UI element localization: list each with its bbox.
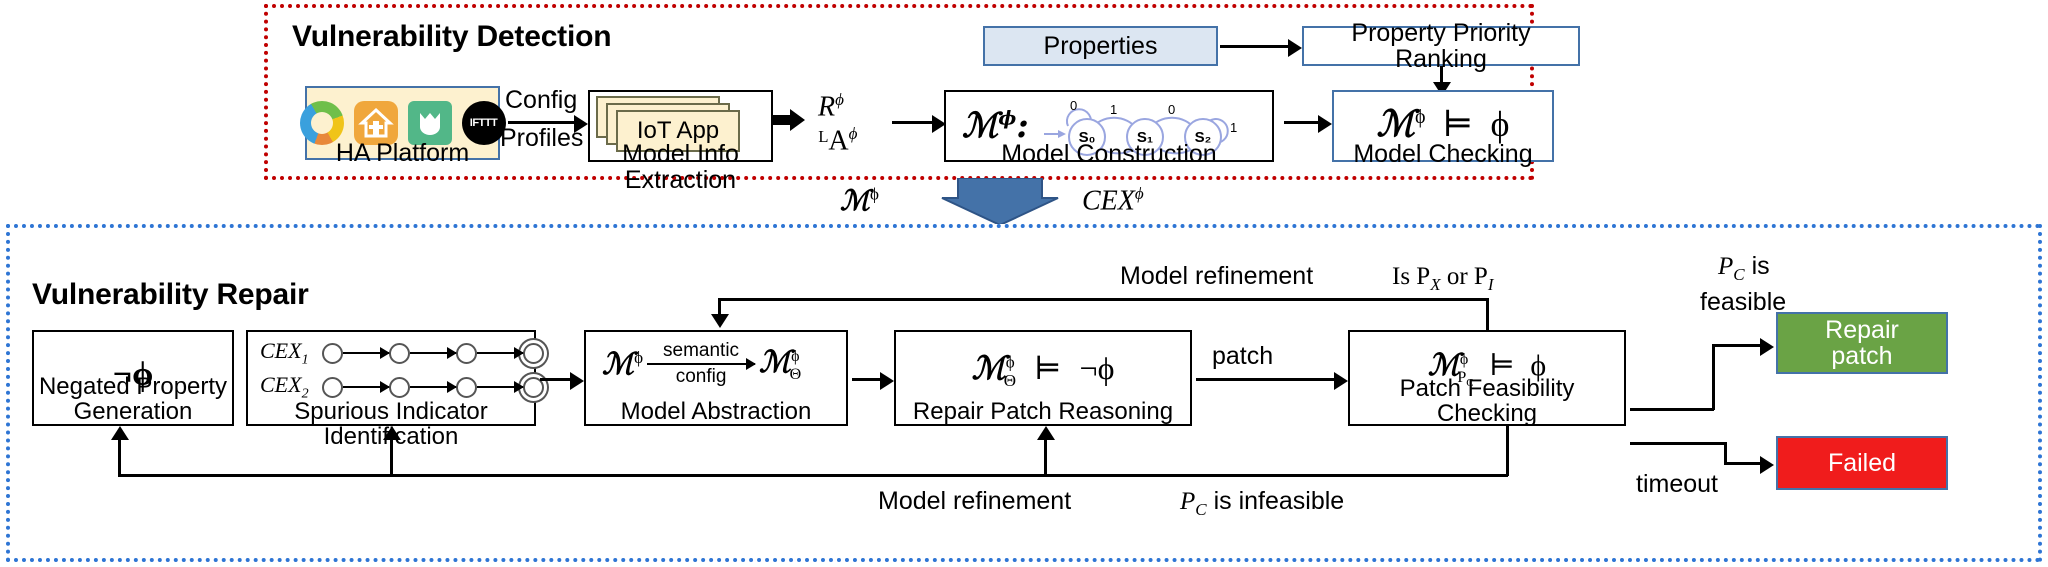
failed-label: Failed xyxy=(1828,450,1896,476)
transition-label-1a: 1 xyxy=(1110,102,1117,117)
pc-feasible-label-line1: PC is xyxy=(1718,252,1770,285)
bridge-right-label: CEXϕ xyxy=(1082,184,1144,217)
reasoning-entails-symbol: ⊨ xyxy=(1024,350,1072,386)
model-construction-caption: Model Construction xyxy=(944,141,1274,167)
refinement-bottom-vert-left xyxy=(118,440,121,476)
property-priority-ranking-box[interactable]: Property Priority Ranking xyxy=(1302,26,1580,66)
abstraction-op-arrow xyxy=(647,363,755,365)
bridge-left-sup: ϕ xyxy=(870,185,879,204)
config-label: Config xyxy=(505,86,577,115)
construction-to-checking-head xyxy=(1318,115,1332,133)
cex1-row: CEX1 xyxy=(260,338,544,368)
reasoning-model-symbol: ℳ xyxy=(972,349,1006,387)
output-r-base: R xyxy=(818,91,835,122)
model-refinement-bottom-label: Model refinement xyxy=(878,487,1071,516)
patch-edge-label: patch xyxy=(1212,342,1273,371)
reasoning-rhs: ¬ϕ xyxy=(1080,350,1115,386)
feasible-vert xyxy=(1712,344,1715,410)
refinement-top-vert-right xyxy=(1486,298,1489,330)
property-priority-ranking-label: Property Priority Ranking xyxy=(1304,20,1578,73)
output-a-symbol: ᴸAϕ xyxy=(818,124,857,157)
reasoning-to-feasibility-head xyxy=(1334,372,1348,390)
profiles-label: Profiles xyxy=(500,124,583,153)
is-px-or-pi-label: Is PX or PI xyxy=(1392,262,1494,295)
properties-to-ranking-line xyxy=(1220,45,1290,48)
bridge-down-arrow xyxy=(940,178,1060,226)
feasible-horiz-1 xyxy=(1630,408,1714,411)
extraction-bold-arrow xyxy=(772,107,806,138)
timeout-label: timeout xyxy=(1636,470,1718,499)
detection-panel-title: Vulnerability Detection xyxy=(292,20,611,54)
timeout-horiz-1 xyxy=(1630,442,1726,445)
repair-patch-line1: Repair xyxy=(1825,317,1899,343)
feasibility-model-sup: ϕ xyxy=(1460,351,1468,368)
cex1-chain xyxy=(322,343,544,364)
timeout-horiz-2 xyxy=(1724,462,1764,465)
cex1-label: CEX1 xyxy=(260,338,322,368)
ha-platform-caption: HA Platform xyxy=(305,140,500,166)
model-symbol-base: ℳ xyxy=(962,106,998,146)
patch-feasibility-caption-line1: Patch Feasibility xyxy=(1348,376,1626,401)
refinement-bottom-horiz xyxy=(118,474,1508,477)
refinement-bottom-vert-mid2 xyxy=(1044,440,1047,476)
refinement-top-arrowhead xyxy=(711,314,729,328)
transition-label-1b: 1 xyxy=(1230,120,1237,135)
repair-patch-reasoning-caption: Repair Patch Reasoning xyxy=(894,399,1192,424)
abstraction-rhs: ℳϕΘ xyxy=(759,345,801,384)
checking-model-sup: ϕ xyxy=(1415,106,1426,128)
pc-infeasible-label: PC is infeasible xyxy=(1180,487,1344,520)
abstraction-to-reasoning-head xyxy=(880,372,894,390)
bridge-right-sup: ϕ xyxy=(1135,184,1144,203)
refinement-bottom-vert-mid1 xyxy=(390,440,393,476)
failed-outcome-box[interactable]: Failed xyxy=(1776,436,1948,490)
model-symbol-sup: ϕ xyxy=(998,108,1016,130)
refinement-bottom-arrowhead-mid2 xyxy=(1037,426,1055,440)
model-checking-caption: Model Checking xyxy=(1332,141,1554,167)
abstraction-lhs: ℳϕ xyxy=(602,347,643,382)
refinement-top-horiz xyxy=(718,298,1489,301)
properties-box[interactable]: Properties xyxy=(983,26,1218,66)
pc-feasible-label-line2: feasible xyxy=(1700,288,1786,317)
cex1-node-2 xyxy=(389,343,410,364)
cex1-edge-3 xyxy=(477,352,523,354)
timeout-arrowhead xyxy=(1760,456,1774,474)
model-abstraction-caption: Model Abstraction xyxy=(584,399,848,424)
abstraction-op-bottom: config xyxy=(676,366,727,388)
bridge-left-label: ℳϕ xyxy=(840,184,879,218)
reasoning-model-sup: ϕ xyxy=(1006,352,1015,371)
timeout-vert xyxy=(1724,442,1727,464)
output-r-sup: ϕ xyxy=(835,90,844,109)
cex2-edge-1 xyxy=(343,386,389,388)
cex2-edge-3 xyxy=(477,386,523,388)
properties-label: Properties xyxy=(1044,33,1158,59)
cex1-node-3 xyxy=(456,343,477,364)
transition-label-0b: 0 xyxy=(1168,102,1175,117)
reasoning-formula: ℳϕΘ ⊨ ¬ϕ xyxy=(972,349,1115,391)
extraction-to-construction-line xyxy=(892,121,934,124)
cex2-node-2 xyxy=(389,377,410,398)
refinement-bottom-arrowhead-left xyxy=(111,426,129,440)
refinement-bottom-arrowhead-mid1 xyxy=(383,426,401,440)
spurious-to-abstraction-head xyxy=(570,372,584,390)
output-a-sup: ϕ xyxy=(849,124,858,143)
bridge-right-base: CEX xyxy=(1082,185,1135,216)
cex1-edge-2 xyxy=(410,352,456,354)
cex2-chain xyxy=(322,377,544,398)
repair-patch-outcome-box[interactable]: Repair patch xyxy=(1776,312,1948,374)
checking-entails-symbol: ⊨ xyxy=(1435,104,1482,144)
cex2-edge-2 xyxy=(410,386,456,388)
negated-property-caption-line1: Negated Property xyxy=(32,374,234,399)
refinement-bottom-vert-right xyxy=(1506,426,1509,476)
feasible-arrowhead xyxy=(1760,338,1774,356)
model-checking-formula: ℳϕ ⊨ ϕ xyxy=(1377,103,1510,145)
abstraction-operator: semantic config xyxy=(647,340,755,388)
patch-feasibility-caption-line2: Checking xyxy=(1348,401,1626,426)
reasoning-model-sub: Θ xyxy=(1004,371,1016,390)
spurious-to-abstraction-line xyxy=(540,378,572,381)
cex2-node-1 xyxy=(322,377,343,398)
model-info-extraction-caption: Model Info Extraction xyxy=(588,141,773,194)
repair-panel-title: Vulnerability Repair xyxy=(32,278,309,312)
output-r-symbol: Rϕ xyxy=(818,90,844,123)
transition-label-0a: 0 xyxy=(1070,98,1077,113)
output-a-base: ᴸA xyxy=(818,125,849,156)
feasible-horiz-2 xyxy=(1712,344,1764,347)
checking-model-symbol: ℳ xyxy=(1377,103,1416,145)
reasoning-to-feasibility-line xyxy=(1196,378,1338,381)
repair-patch-line2: patch xyxy=(1831,343,1892,369)
abstraction-formula: ℳϕ semantic config ℳϕΘ xyxy=(602,340,801,388)
properties-to-ranking-head xyxy=(1288,39,1302,57)
construction-to-checking-line xyxy=(1284,121,1320,124)
ifttt-logo-text: IFTTT xyxy=(470,117,497,129)
cex1-node-final xyxy=(523,343,544,364)
cex2-node-3 xyxy=(456,377,477,398)
cex1-edge-1 xyxy=(343,352,389,354)
checking-phi-symbol: ϕ xyxy=(1491,104,1510,144)
negated-property-caption-line2: Generation xyxy=(32,399,234,424)
abstraction-op-top: semantic xyxy=(663,340,739,362)
cex1-node-1 xyxy=(322,343,343,364)
bridge-left-base: ℳ xyxy=(840,184,870,217)
model-refinement-top-label: Model refinement xyxy=(1120,262,1313,291)
